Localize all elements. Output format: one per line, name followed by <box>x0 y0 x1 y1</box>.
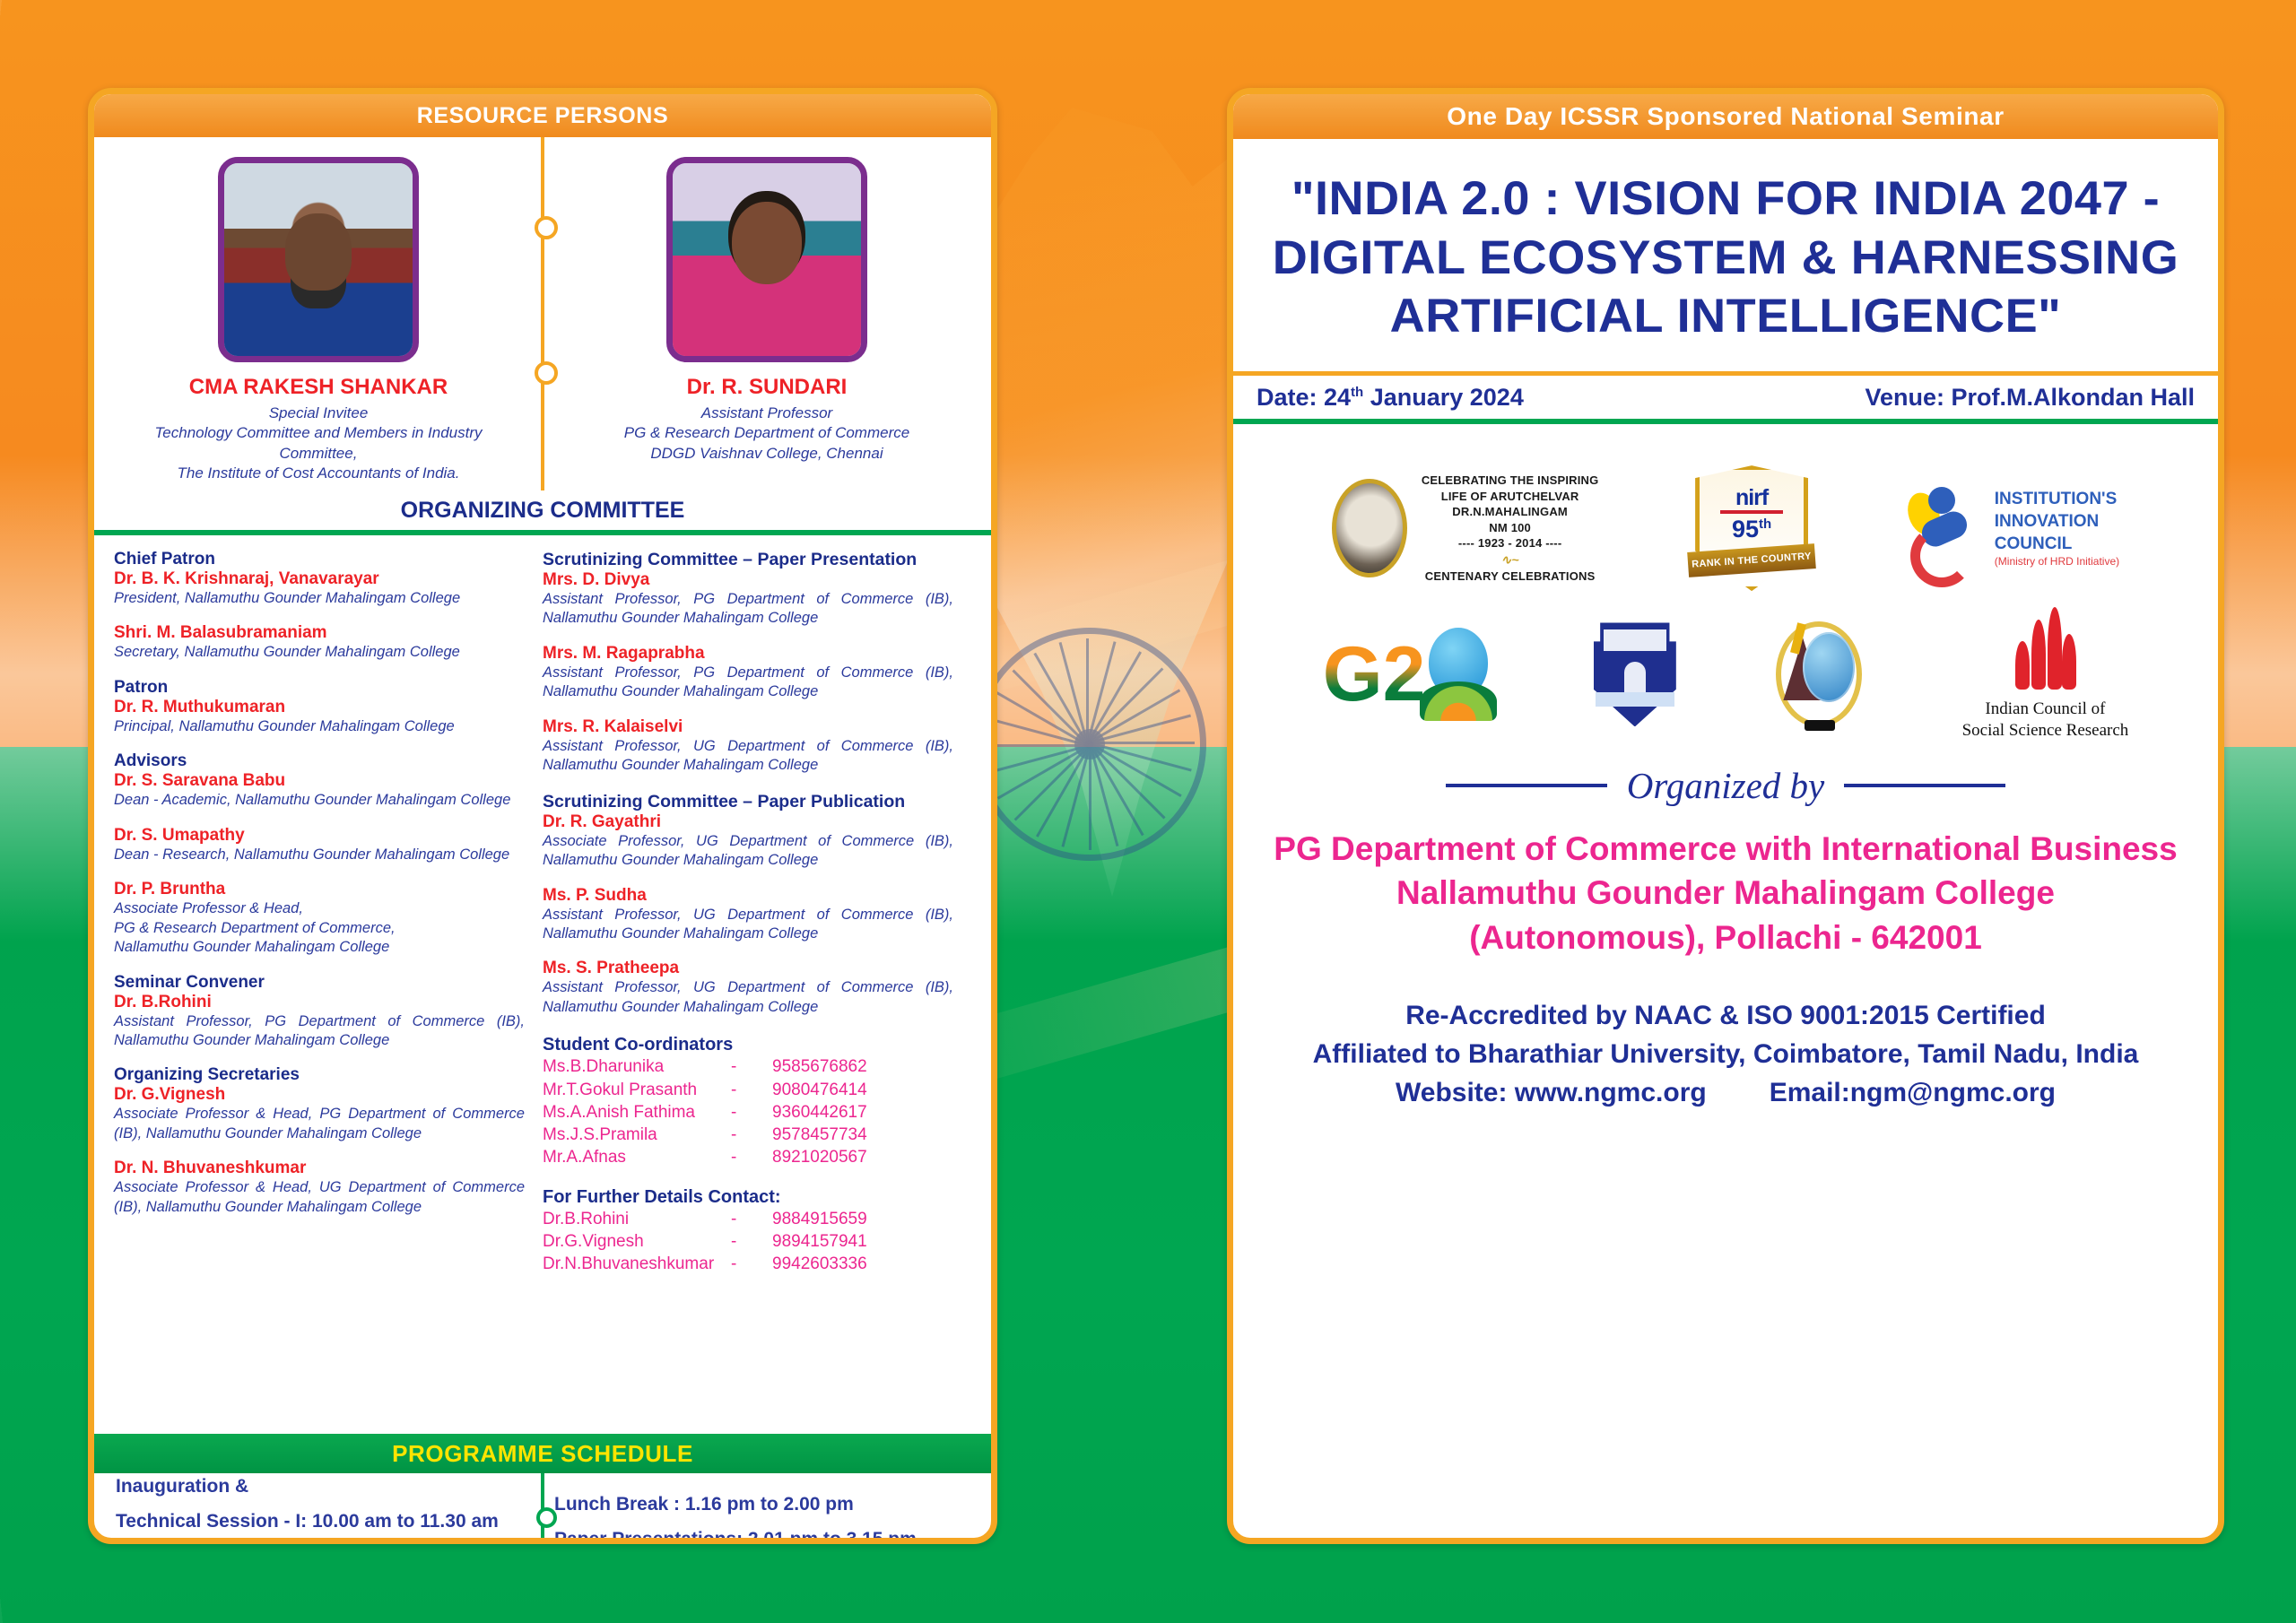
committee-member-affiliation: Assistant Professor, UG Department of Co… <box>543 906 953 944</box>
mahalingam-portrait-icon <box>1332 479 1407 577</box>
website-link[interactable]: Website: www.ngmc.org <box>1396 1073 1707 1112</box>
committee-column-left: Chief PatronDr. B. K. Krishnaraj, Vanava… <box>114 550 543 1428</box>
resource-person-affiliation: DDGD Vaishnav College, Chennai <box>631 444 902 464</box>
committee-entry: Ms. S. PratheepaAssistant Professor, UG … <box>543 959 953 1017</box>
committee-member-affiliation: Assistant Professor, UG Department of Co… <box>543 737 953 776</box>
committee-entry: Seminar ConvenerDr. B.RohiniAssistant Pr… <box>114 973 525 1051</box>
resource-persons-header: RESOURCE PERSONS <box>94 94 991 137</box>
committee-member-affiliation: President, Nallamuthu Gounder Mahalingam… <box>114 589 525 608</box>
programme-item: Technical Session - I: 10.00 am to 11.30… <box>116 1505 531 1540</box>
committee-member-name: Dr. N. Bhuvaneshkumar <box>114 1159 525 1178</box>
programme-item: Lunch Break : 1.16 pm to 2.00 pm <box>554 1488 970 1523</box>
ashoka-chakra-icon <box>973 628 1206 861</box>
committee-entry: Ms. P. SudhaAssistant Professor, UG Depa… <box>543 886 953 944</box>
nirf-underline <box>1720 510 1783 514</box>
title-line: ARTIFICIAL INTELLIGENCE" <box>1251 287 2201 346</box>
student-coordinator-row: Ms.B.Dharunika-9585676862 <box>543 1055 953 1078</box>
avatar <box>666 157 867 362</box>
contact-name: Dr.B.Rohini <box>543 1208 731 1230</box>
committee-member-affiliation: Nallamuthu Gounder Mahalingam College <box>114 938 525 957</box>
contact-title: For Further Details Contact: <box>543 1187 953 1208</box>
iic-text: INSTITUTION'S INNOVATION COUNCIL (Minist… <box>1995 488 2119 569</box>
seminar-kicker: One Day ICSSR Sponsored National Seminar <box>1233 94 2218 139</box>
committee-entry: Dr. N. BhuvaneshkumarAssociate Professor… <box>114 1159 525 1217</box>
coordinator-name: Ms.A.Anish Fathima <box>543 1101 731 1124</box>
committee-role: Patron <box>114 678 525 698</box>
seminar-title: "INDIA 2.0 : VISION FOR INDIA 2047 - DIG… <box>1233 139 2218 371</box>
nm100-text: CELEBRATING THE INSPIRING LIFE OF ARUTCH… <box>1422 473 1599 584</box>
committee-member-name: Ms. P. Sudha <box>543 886 953 906</box>
resource-person-affiliation: PG & Research Department of Commerce <box>604 423 929 443</box>
committee-member-name: Dr. R. Muthukumaran <box>114 698 525 717</box>
programme-schedule-body: Inauguration &Technical Session - I: 10.… <box>94 1473 991 1544</box>
programme-item: Tea Break : 11.31 am to 11.45 am <box>116 1540 531 1544</box>
contact-row: Dr.B.Rohini-9884915659 <box>543 1208 953 1230</box>
avatar <box>218 157 419 362</box>
icssr-text: Indian Council of Social Science Researc… <box>1962 699 2129 742</box>
committee-entry: Chief PatronDr. B. K. Krishnaraj, Vanava… <box>114 550 525 608</box>
committee-member-name: Dr. S. Saravana Babu <box>114 771 525 791</box>
committee-role: Organizing Secretaries <box>114 1065 525 1085</box>
resource-divider <box>541 137 544 490</box>
contact-phone: 9884915659 <box>772 1208 867 1230</box>
institutions-innovation-council-logo: INSTITUTION'S INNOVATION COUNCIL (Minist… <box>1905 485 2119 571</box>
committee-role: Chief Patron <box>114 550 525 569</box>
student-coordinators-title: Student Co-ordinators <box>543 1035 953 1055</box>
committee-member-name: Dr. B. K. Krishnaraj, Vanavarayar <box>114 569 525 589</box>
nirf-rank: 95th <box>1695 516 1808 543</box>
bharathiar-university-logo <box>1772 618 1865 731</box>
g20-logo: G2 <box>1323 628 1498 721</box>
signature-icon: ∿~ <box>1422 551 1599 568</box>
committee-member-affiliation: Associate Professor & Head, <box>114 899 525 918</box>
committee-member-name: Shri. M. Balasubramaniam <box>114 623 525 643</box>
coordinator-name: Mr.A.Afnas <box>543 1146 731 1168</box>
title-line: DIGITAL ECOSYSTEM & HARNESSING <box>1251 229 2201 288</box>
committee-entry: Mrs. R. KalaiselviAssistant Professor, U… <box>543 717 953 776</box>
committee-member-name: Mrs. M. Ragaprabha <box>543 644 953 664</box>
resource-person-card: CMA RAKESH SHANKAR Special Invitee Techn… <box>94 137 543 490</box>
committee-section-title: Scrutinizing Committee – Paper Presentat… <box>543 550 953 570</box>
resource-person-affiliation: Technology Committee and Members in Indu… <box>94 423 543 464</box>
programme-column-left: Inauguration &Technical Session - I: 10.… <box>116 1489 531 1544</box>
contact-name: Dr.G.Vignesh <box>543 1230 731 1253</box>
programme-item: Paper Presentations: 2.01 pm to 3.15 pm <box>554 1523 970 1544</box>
committee-member-affiliation: PG & Research Department of Commerce, <box>114 919 525 938</box>
contact-row: Dr.G.Vignesh-9894157941 <box>543 1230 953 1253</box>
rule-right <box>1844 784 2005 787</box>
resource-person-name: CMA RAKESH SHANKAR <box>189 375 448 400</box>
committee-member-name: Dr. S. Umapathy <box>114 826 525 846</box>
committee-member-affiliation: Assistant Professor, PG Department of Co… <box>543 590 953 629</box>
committee-member-name: Dr. R. Gayathri <box>543 812 953 832</box>
committee-member-affiliation: Secretary, Nallamuthu Gounder Mahalingam… <box>114 643 525 662</box>
committee-entry: Scrutinizing Committee – Paper Publicati… <box>543 792 953 871</box>
committee-column-right: Scrutinizing Committee – Paper Presentat… <box>543 550 971 1428</box>
coordinator-name: Ms.B.Dharunika <box>543 1055 731 1078</box>
committee-entry: Mrs. M. RagaprabhaAssistant Professor, P… <box>543 644 953 702</box>
row-dash: - <box>731 1230 772 1253</box>
date-venue-bar: Date: 24th January 2024 Venue: Prof.M.Al… <box>1233 371 2218 424</box>
student-coordinator-row: Ms.J.S.Pramila-9578457734 <box>543 1124 953 1146</box>
committee-entry: Dr. P. BrunthaAssociate Professor & Head… <box>114 880 525 957</box>
resource-person-role: Assistant Professor <box>682 404 852 423</box>
organizer-name: PG Department of Commerce with Internati… <box>1269 827 2182 960</box>
organized-by-section: Organized by PG Department of Commerce w… <box>1233 742 2218 1112</box>
college-crest-logo <box>1594 622 1676 726</box>
row-dash: - <box>731 1208 772 1230</box>
committee-entry: Organizing SecretariesDr. G.VigneshAssoc… <box>114 1065 525 1143</box>
g20-lotus-globe-icon <box>1420 628 1497 721</box>
resource-person-affiliation: The Institute of Cost Accountants of Ind… <box>158 464 480 483</box>
logo-row-bottom: G2 Indian Council of Social Science Rese… <box>1233 598 2218 742</box>
resource-persons-body: CMA RAKESH SHANKAR Special Invitee Techn… <box>94 137 991 490</box>
row-dash: - <box>731 1146 772 1168</box>
committee-member-affiliation: Principal, Nallamuthu Gounder Mahalingam… <box>114 717 525 736</box>
committee-member-name: Dr. P. Bruntha <box>114 880 525 899</box>
rule-left <box>1446 784 1607 787</box>
row-dash: - <box>731 1079 772 1101</box>
chakra-spoke <box>983 744 1089 747</box>
coordinator-phone: 9578457734 <box>772 1124 867 1146</box>
row-dash: - <box>731 1253 772 1275</box>
coordinator-name: Ms.J.S.Pramila <box>543 1124 731 1146</box>
title-line: "INDIA 2.0 : VISION FOR INDIA 2047 - <box>1251 169 2201 229</box>
programme-item: Inauguration & <box>116 1470 531 1505</box>
committee-entry: Scrutinizing Committee – Paper Presentat… <box>543 550 953 629</box>
row-dash: - <box>731 1055 772 1078</box>
committee-member-affiliation: Assistant Professor, UG Department of Co… <box>543 978 953 1017</box>
left-panel: RESOURCE PERSONS CMA RAKESH SHANKAR Spec… <box>88 88 997 1544</box>
right-panel: One Day ICSSR Sponsored National Seminar… <box>1227 88 2224 1544</box>
committee-member-affiliation: Assistant Professor, PG Department of Co… <box>543 664 953 702</box>
committee-member-affiliation: Associate Professor & Head, UG Departmen… <box>114 1178 525 1217</box>
icssr-logo: Indian Council of Social Science Researc… <box>1962 607 2129 742</box>
student-coordinator-row: Mr.A.Afnas-8921020567 <box>543 1146 953 1168</box>
row-dash: - <box>731 1101 772 1124</box>
committee-member-affiliation: Associate Professor, UG Department of Co… <box>543 832 953 871</box>
contact-phone: 9894157941 <box>772 1230 867 1253</box>
committee-member-name: Mrs. R. Kalaiselvi <box>543 717 953 737</box>
contact-phone: 9942603336 <box>772 1253 867 1275</box>
committee-member-name: Dr. B.Rohini <box>114 993 525 1012</box>
chakra-spoke <box>1089 744 1091 850</box>
committee-member-affiliation: Associate Professor & Head, PG Departmen… <box>114 1105 525 1143</box>
resource-person-card: Dr. R. SUNDARI Assistant Professor PG & … <box>543 137 991 490</box>
logo-row-top: CELEBRATING THE INSPIRING LIFE OF ARUTCH… <box>1233 424 2218 598</box>
committee-entry: Shri. M. BalasubramaniamSecretary, Nalla… <box>114 623 525 662</box>
accreditation-footer: Re-Accredited by NAAC & ISO 9001:2015 Ce… <box>1269 996 2182 1113</box>
committee-entry: PatronDr. R. MuthukumaranPrincipal, Nall… <box>114 678 525 736</box>
committee-role: Advisors <box>114 751 525 771</box>
programme-divider-dot <box>536 1507 557 1528</box>
student-coordinator-row: Mr.T.Gokul Prasanth-9080476414 <box>543 1079 953 1101</box>
resource-divider-dot <box>535 216 558 239</box>
programme-column-right: Lunch Break : 1.16 pm to 2.00 pmPaper Pr… <box>531 1489 970 1544</box>
programme-schedule-header: PROGRAMME SCHEDULE <box>94 1434 991 1473</box>
contact-row: Dr.N.Bhuvaneshkumar-9942603336 <box>543 1253 953 1275</box>
committee-entry: AdvisorsDr. S. Saravana BabuDean - Acade… <box>114 751 525 810</box>
seminar-venue: Venue: Prof.M.Alkondan Hall <box>1865 384 2195 412</box>
resource-divider-dot <box>535 361 558 385</box>
committee-member-name: Dr. G.Vignesh <box>114 1085 525 1105</box>
committee-entry: Dr. S. UmapathyDean - Research, Nallamut… <box>114 826 525 864</box>
committee-member-affiliation: Dean - Academic, Nallamuthu Gounder Maha… <box>114 791 525 810</box>
email-link[interactable]: Email:ngm@ngmc.org <box>1770 1073 2056 1112</box>
organizing-committee-header: ORGANIZING COMMITTEE <box>94 490 991 535</box>
committee-member-name: Mrs. D. Divya <box>543 570 953 590</box>
chakra-spoke <box>1086 638 1089 744</box>
organizing-committee-body: Chief PatronDr. B. K. Krishnaraj, Vanava… <box>94 535 991 1434</box>
committee-member-affiliation: Assistant Professor, PG Department of Co… <box>114 1012 525 1051</box>
committee-role: Seminar Convener <box>114 973 525 993</box>
contact-name: Dr.N.Bhuvaneshkumar <box>543 1253 731 1275</box>
committee-member-name: Ms. S. Pratheepa <box>543 959 953 978</box>
chakra-spoke <box>1089 742 1195 744</box>
resource-person-name: Dr. R. SUNDARI <box>687 375 848 400</box>
nirf-rank-badge-logo: nirf 95th RANK IN THE COUNTRY <box>1695 465 1808 591</box>
flame-icon <box>2012 607 2078 690</box>
coordinator-phone: 9360442617 <box>772 1101 867 1124</box>
coordinator-phone: 9080476414 <box>772 1079 867 1101</box>
seminar-date: Date: 24th January 2024 <box>1257 384 1524 412</box>
iic-mark-icon <box>1905 485 1982 571</box>
committee-section-title: Scrutinizing Committee – Paper Publicati… <box>543 792 953 812</box>
row-dash: - <box>731 1124 772 1146</box>
coordinator-phone: 8921020567 <box>772 1146 867 1168</box>
coordinator-name: Mr.T.Gokul Prasanth <box>543 1079 731 1101</box>
committee-member-affiliation: Dean - Research, Nallamuthu Gounder Maha… <box>114 846 525 864</box>
student-coordinator-row: Ms.A.Anish Fathima-9360442617 <box>543 1101 953 1124</box>
nm100-centenary-logo: CELEBRATING THE INSPIRING LIFE OF ARUTCH… <box>1332 473 1599 584</box>
organized-by-heading: Organized by <box>1269 764 2182 807</box>
resource-person-role: Special Invitee <box>249 404 388 423</box>
coordinator-phone: 9585676862 <box>772 1055 867 1078</box>
